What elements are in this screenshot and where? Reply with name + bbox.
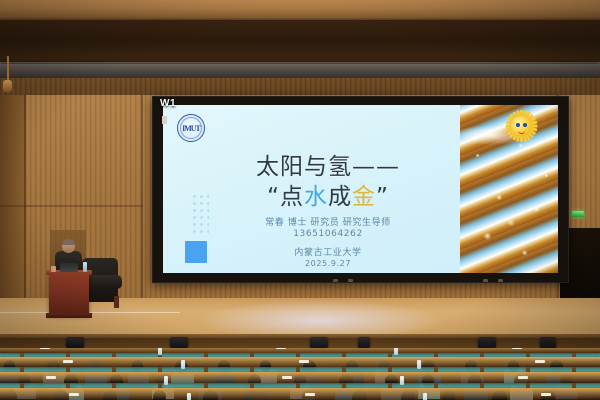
desk-paper (541, 393, 551, 396)
sun-eye-left (516, 123, 520, 127)
lectern-podium (49, 273, 89, 315)
slide-date: 2025.9.27 (203, 259, 453, 268)
screen-frame-dot (483, 279, 488, 282)
desk-paper (282, 376, 292, 379)
water-bottle (83, 262, 87, 272)
desk-paper (305, 393, 315, 396)
floor-monitor-speaker (310, 337, 328, 348)
desk-paper (299, 360, 309, 363)
wall-seam (141, 95, 143, 300)
exit-sign-icon (572, 211, 584, 217)
screen-frame-dot (348, 279, 353, 282)
slide-presenter-name: 常春 博士 研究员 研究生导师 (203, 215, 453, 228)
floor-monitor-speaker (170, 337, 188, 348)
desk-water-bottle (423, 393, 427, 400)
speaker-hair (62, 239, 75, 245)
desk-water-bottle (400, 376, 404, 385)
armchair-leg (114, 296, 119, 308)
screen-display-area: IMUT 太阳与氢—— “点水成金” 常春 博士 研究员 研究生导师 13651… (163, 105, 558, 273)
desk-water-bottle (164, 376, 168, 385)
cup-on-podium (51, 266, 56, 272)
audience-desk-row (0, 348, 600, 353)
podium-base (46, 313, 92, 318)
subtitle-text-a: 点 (280, 184, 304, 210)
desk-paper (535, 360, 545, 363)
cartoon-sun-icon (506, 111, 536, 141)
slide-subtitle: “点水成金” (203, 177, 453, 211)
wall-left-shadow (0, 95, 26, 300)
laptop-on-podium (60, 263, 78, 272)
audience-desk-row (0, 372, 600, 383)
desk-paper (69, 393, 79, 396)
floor-monitor-speaker (540, 337, 556, 348)
floor-monitor-speaker (478, 337, 496, 348)
subtitle-water-char: 水 (304, 184, 328, 210)
slide-title: 太阳与氢—— (203, 147, 453, 181)
venue-label-w1: W1 (160, 98, 176, 109)
floor-monitor-speaker (66, 337, 84, 348)
desk-paper (276, 348, 286, 349)
university-seal-logo: IMUT (177, 114, 205, 142)
subtitle-text-b: 成 (328, 184, 352, 210)
desk-water-bottle (181, 360, 185, 369)
lecture-hall-photo: IMUT 太阳与氢—— “点水成金” 常春 博士 研究员 研究生导师 13651… (0, 0, 600, 400)
hanging-fixture-cord (7, 56, 9, 82)
desk-paper (518, 376, 528, 379)
desk-paper (40, 348, 50, 349)
ceiling-soffit (0, 20, 600, 66)
desk-water-bottle (417, 360, 421, 369)
projector-floor-glare (195, 300, 445, 334)
screen-frame-dot (333, 279, 338, 282)
desk-water-bottle (394, 348, 398, 355)
audience-seating-area (0, 348, 600, 400)
desk-paper (512, 348, 522, 349)
wall-seam (0, 205, 143, 207)
floor-monitor-speaker (358, 337, 370, 348)
projection-screen: IMUT 太阳与氢—— “点水成金” 常春 博士 研究员 研究生导师 13651… (152, 96, 569, 283)
hanging-lamp-icon (3, 80, 12, 92)
slide-affiliation: 内蒙古工业大学 (203, 245, 453, 258)
wall-seam (24, 95, 26, 300)
slide-presenter-phone: 13651064262 (203, 229, 453, 239)
desk-paper (46, 376, 56, 379)
subtitle-gold-char: 金 (352, 184, 376, 210)
seal-ring (180, 117, 202, 139)
desk-water-bottle (158, 348, 162, 355)
subtitle-open-quote: “ (267, 184, 280, 210)
subtitle-close-quote: ” (376, 184, 389, 210)
slide-photo-water (460, 105, 558, 273)
screen-frame-dot (498, 279, 503, 282)
presentation-slide: IMUT 太阳与氢—— “点水成金” 常春 博士 研究员 研究生导师 13651… (163, 105, 558, 273)
audience-desk-row (0, 388, 600, 400)
sun-eye-right (523, 123, 527, 127)
desk-water-bottle (187, 393, 191, 400)
wall-switch-plate (162, 116, 167, 124)
desk-paper (63, 360, 73, 363)
